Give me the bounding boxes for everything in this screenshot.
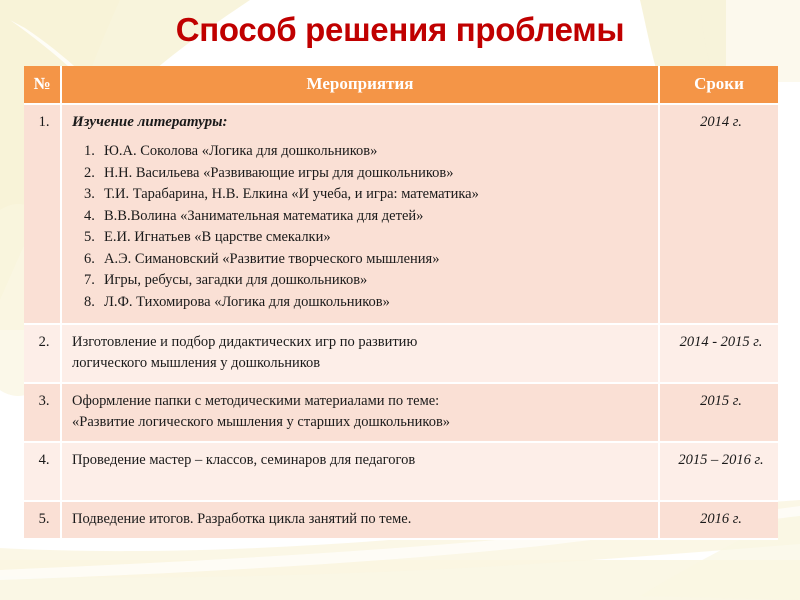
list-item-index: 2. <box>84 163 104 185</box>
table-row: 2. Изготовление и подбор дидактических и… <box>24 325 778 384</box>
row-term: 2015 г. <box>660 384 778 443</box>
activity-line: Изготовление и подбор дидактических игр … <box>72 332 652 353</box>
list-item: 3.Т.И. Тарабарина, Н.В. Елкина «И учеба,… <box>84 184 652 206</box>
list-item-index: 3. <box>84 184 104 206</box>
row-term: 2014 - 2015 г. <box>660 325 778 384</box>
activity-line: «Развитие логического мышления у старших… <box>72 412 652 433</box>
plan-table-container: № Мероприятия Сроки 1. Изучение литерату… <box>24 66 778 540</box>
activity-line: Проведение мастер – классов, семинаров д… <box>72 450 652 471</box>
list-item: 7.Игры, ребусы, загадки для дошкольников… <box>84 270 652 292</box>
row-number: 5. <box>24 502 62 540</box>
activity-spacer <box>72 471 652 492</box>
plan-table: № Мероприятия Сроки 1. Изучение литерату… <box>24 66 778 540</box>
list-item-index: 6. <box>84 249 104 271</box>
slide-canvas: Способ решения проблемы № Мероприятия Ср… <box>0 0 800 600</box>
list-item: 8.Л.Ф. Тихомирова «Логика для дошкольник… <box>84 292 652 314</box>
row-activities: Подведение итогов. Разработка цикла заня… <box>62 502 660 540</box>
list-item-index: 5. <box>84 227 104 249</box>
row-activities: Изготовление и подбор дидактических игр … <box>62 325 660 384</box>
row-activities: Проведение мастер – классов, семинаров д… <box>62 443 660 502</box>
list-item: 6.А.Э. Симановский «Развитие творческого… <box>84 249 652 271</box>
row-number: 2. <box>24 325 62 384</box>
list-item-index: 7. <box>84 270 104 292</box>
table-header-row: № Мероприятия Сроки <box>24 66 778 105</box>
bibliography-list: 1.Ю.А. Соколова «Логика для дошкольников… <box>72 141 652 315</box>
row-activities: Изучение литературы: 1.Ю.А. Соколова «Ло… <box>62 105 660 325</box>
column-header-terms: Сроки <box>660 66 778 105</box>
row-number: 1. <box>24 105 62 325</box>
column-header-activities: Мероприятия <box>62 66 660 105</box>
list-item-label: Ю.А. Соколова «Логика для дошкольников» <box>104 143 377 159</box>
row-number: 4. <box>24 443 62 502</box>
row-activities: Оформление папки с методическими материа… <box>62 384 660 443</box>
list-item: 5.Е.И. Игнатьев «В царстве смекалки» <box>84 227 652 249</box>
list-item-label: Л.Ф. Тихомирова «Логика для дошкольников… <box>104 294 390 310</box>
list-item-label: Н.Н. Васильева «Развивающие игры для дош… <box>104 165 454 181</box>
table-row: 1. Изучение литературы: 1.Ю.А. Соколова … <box>24 105 778 325</box>
column-header-number: № <box>24 66 62 105</box>
row-term: 2016 г. <box>660 502 778 540</box>
list-item-label: Т.И. Тарабарина, Н.В. Елкина «И учеба, и… <box>104 186 479 202</box>
list-item: 4.В.В.Волина «Занимательная математика д… <box>84 206 652 228</box>
activity-line: Оформление папки с методическими материа… <box>72 391 652 412</box>
list-item-index: 4. <box>84 206 104 228</box>
list-item: 1.Ю.А. Соколова «Логика для дошкольников… <box>84 141 652 163</box>
table-row: 4. Проведение мастер – классов, семинаро… <box>24 443 778 502</box>
table-row: 3. Оформление папки с методическими мате… <box>24 384 778 443</box>
row-term: 2015 – 2016 г. <box>660 443 778 502</box>
row-number: 3. <box>24 384 62 443</box>
page-title: Способ решения проблемы <box>0 8 800 52</box>
table-row: 5. Подведение итогов. Разработка цикла з… <box>24 502 778 540</box>
list-item-index: 8. <box>84 292 104 314</box>
activity-line: Подведение итогов. Разработка цикла заня… <box>72 509 652 530</box>
list-item-index: 1. <box>84 141 104 163</box>
row-term: 2014 г. <box>660 105 778 325</box>
list-item-label: А.Э. Симановский «Развитие творческого м… <box>104 251 439 267</box>
list-item: 2.Н.Н. Васильева «Развивающие игры для д… <box>84 163 652 185</box>
list-item-label: Игры, ребусы, загадки для дошкольников» <box>104 272 367 288</box>
activity-heading: Изучение литературы: <box>72 112 652 132</box>
activity-line: логического мышления у дошкольников <box>72 353 652 374</box>
list-item-label: В.В.Волина «Занимательная математика для… <box>104 208 423 224</box>
list-item-label: Е.И. Игнатьев «В царстве смекалки» <box>104 229 331 245</box>
